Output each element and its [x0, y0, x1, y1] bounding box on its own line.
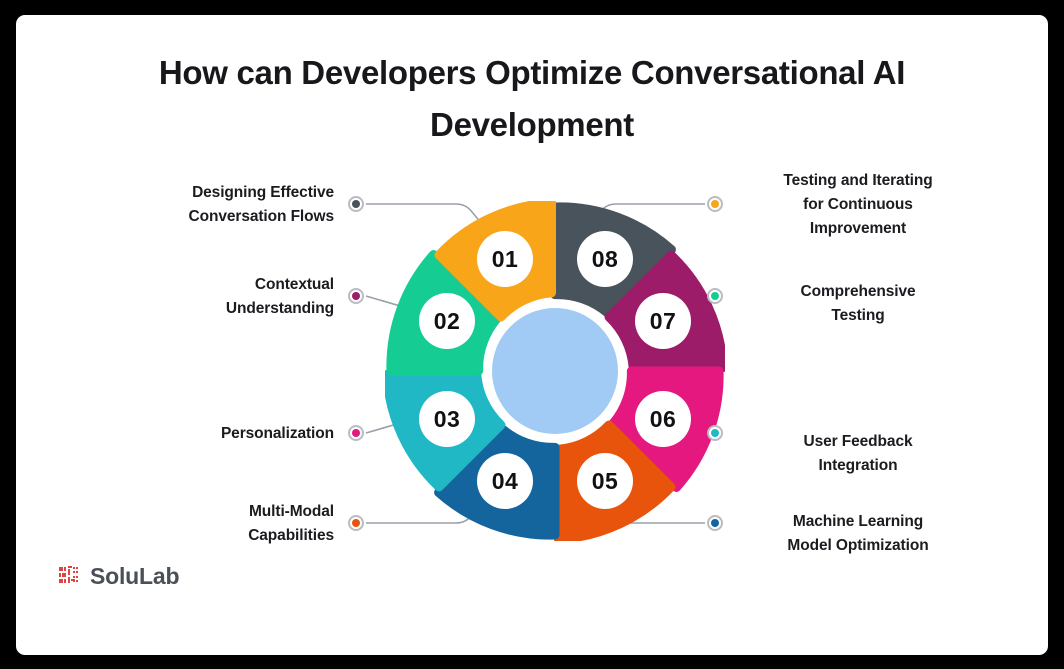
image-frame: How can Developers Optimize Conversation… [0, 0, 1064, 669]
label-04: Multi-Modal Capabilities [78, 500, 334, 548]
connector-dot-01 [348, 196, 364, 212]
segment-number-02: 02 [419, 293, 475, 349]
label-06: User Feedback Integration [728, 430, 988, 478]
label-08-line-3: Improvement [728, 217, 988, 241]
segment-number-03: 03 [419, 391, 475, 447]
title-line-2: Development [430, 106, 634, 143]
label-02-line-2: Understanding [78, 297, 334, 321]
title-line-1: How can Developers Optimize Conversation… [159, 54, 905, 91]
page-title: How can Developers Optimize Conversation… [76, 47, 988, 151]
label-07: Comprehensive Testing [728, 280, 988, 328]
connector-dot-02 [348, 288, 364, 304]
infographic-canvas: How can Developers Optimize Conversation… [16, 15, 1048, 655]
segment-number-07: 07 [635, 293, 691, 349]
connector-dot-03 [348, 425, 364, 441]
label-02: Contextual Understanding [78, 273, 334, 321]
solulab-logo-text: SoluLab [90, 563, 179, 590]
segment-number-06: 06 [635, 391, 691, 447]
connector-dot-07 [707, 288, 723, 304]
label-05-line-1: Machine Learning [728, 510, 988, 534]
label-07-line-2: Testing [728, 304, 988, 328]
solulab-logo: SoluLab [59, 563, 179, 590]
connector-dot-06 [707, 425, 723, 441]
connector-dot-05 [707, 515, 723, 531]
label-08-line-1: Testing and Iterating [728, 169, 988, 193]
segment-number-08: 08 [577, 231, 633, 287]
donut-wheel: 01 02 03 04 05 06 07 08 [385, 201, 725, 541]
label-05: Machine Learning Model Optimization [728, 510, 988, 558]
label-07-line-1: Comprehensive [728, 280, 988, 304]
segment-number-04: 04 [477, 453, 533, 509]
segment-number-05: 05 [577, 453, 633, 509]
label-06-line-1: User Feedback [728, 430, 988, 454]
label-01: Designing Effective Conversation Flows [78, 181, 334, 229]
connector-dot-08 [707, 196, 723, 212]
label-01-line-1: Designing Effective [78, 181, 334, 205]
segment-number-01: 01 [477, 231, 533, 287]
connector-dot-04 [348, 515, 364, 531]
label-03: Personalization [78, 422, 334, 446]
label-02-line-1: Contextual [78, 273, 334, 297]
label-04-line-2: Capabilities [78, 524, 334, 548]
label-01-line-2: Conversation Flows [78, 205, 334, 229]
wheel-center-circle [492, 308, 618, 434]
solulab-logo-mark [59, 566, 81, 588]
label-04-line-1: Multi-Modal [78, 500, 334, 524]
label-05-line-2: Model Optimization [728, 534, 988, 558]
label-06-line-2: Integration [728, 454, 988, 478]
label-08: Testing and Iterating for Continuous Imp… [728, 169, 988, 241]
label-08-line-2: for Continuous [728, 193, 988, 217]
label-03-line-1: Personalization [78, 422, 334, 446]
